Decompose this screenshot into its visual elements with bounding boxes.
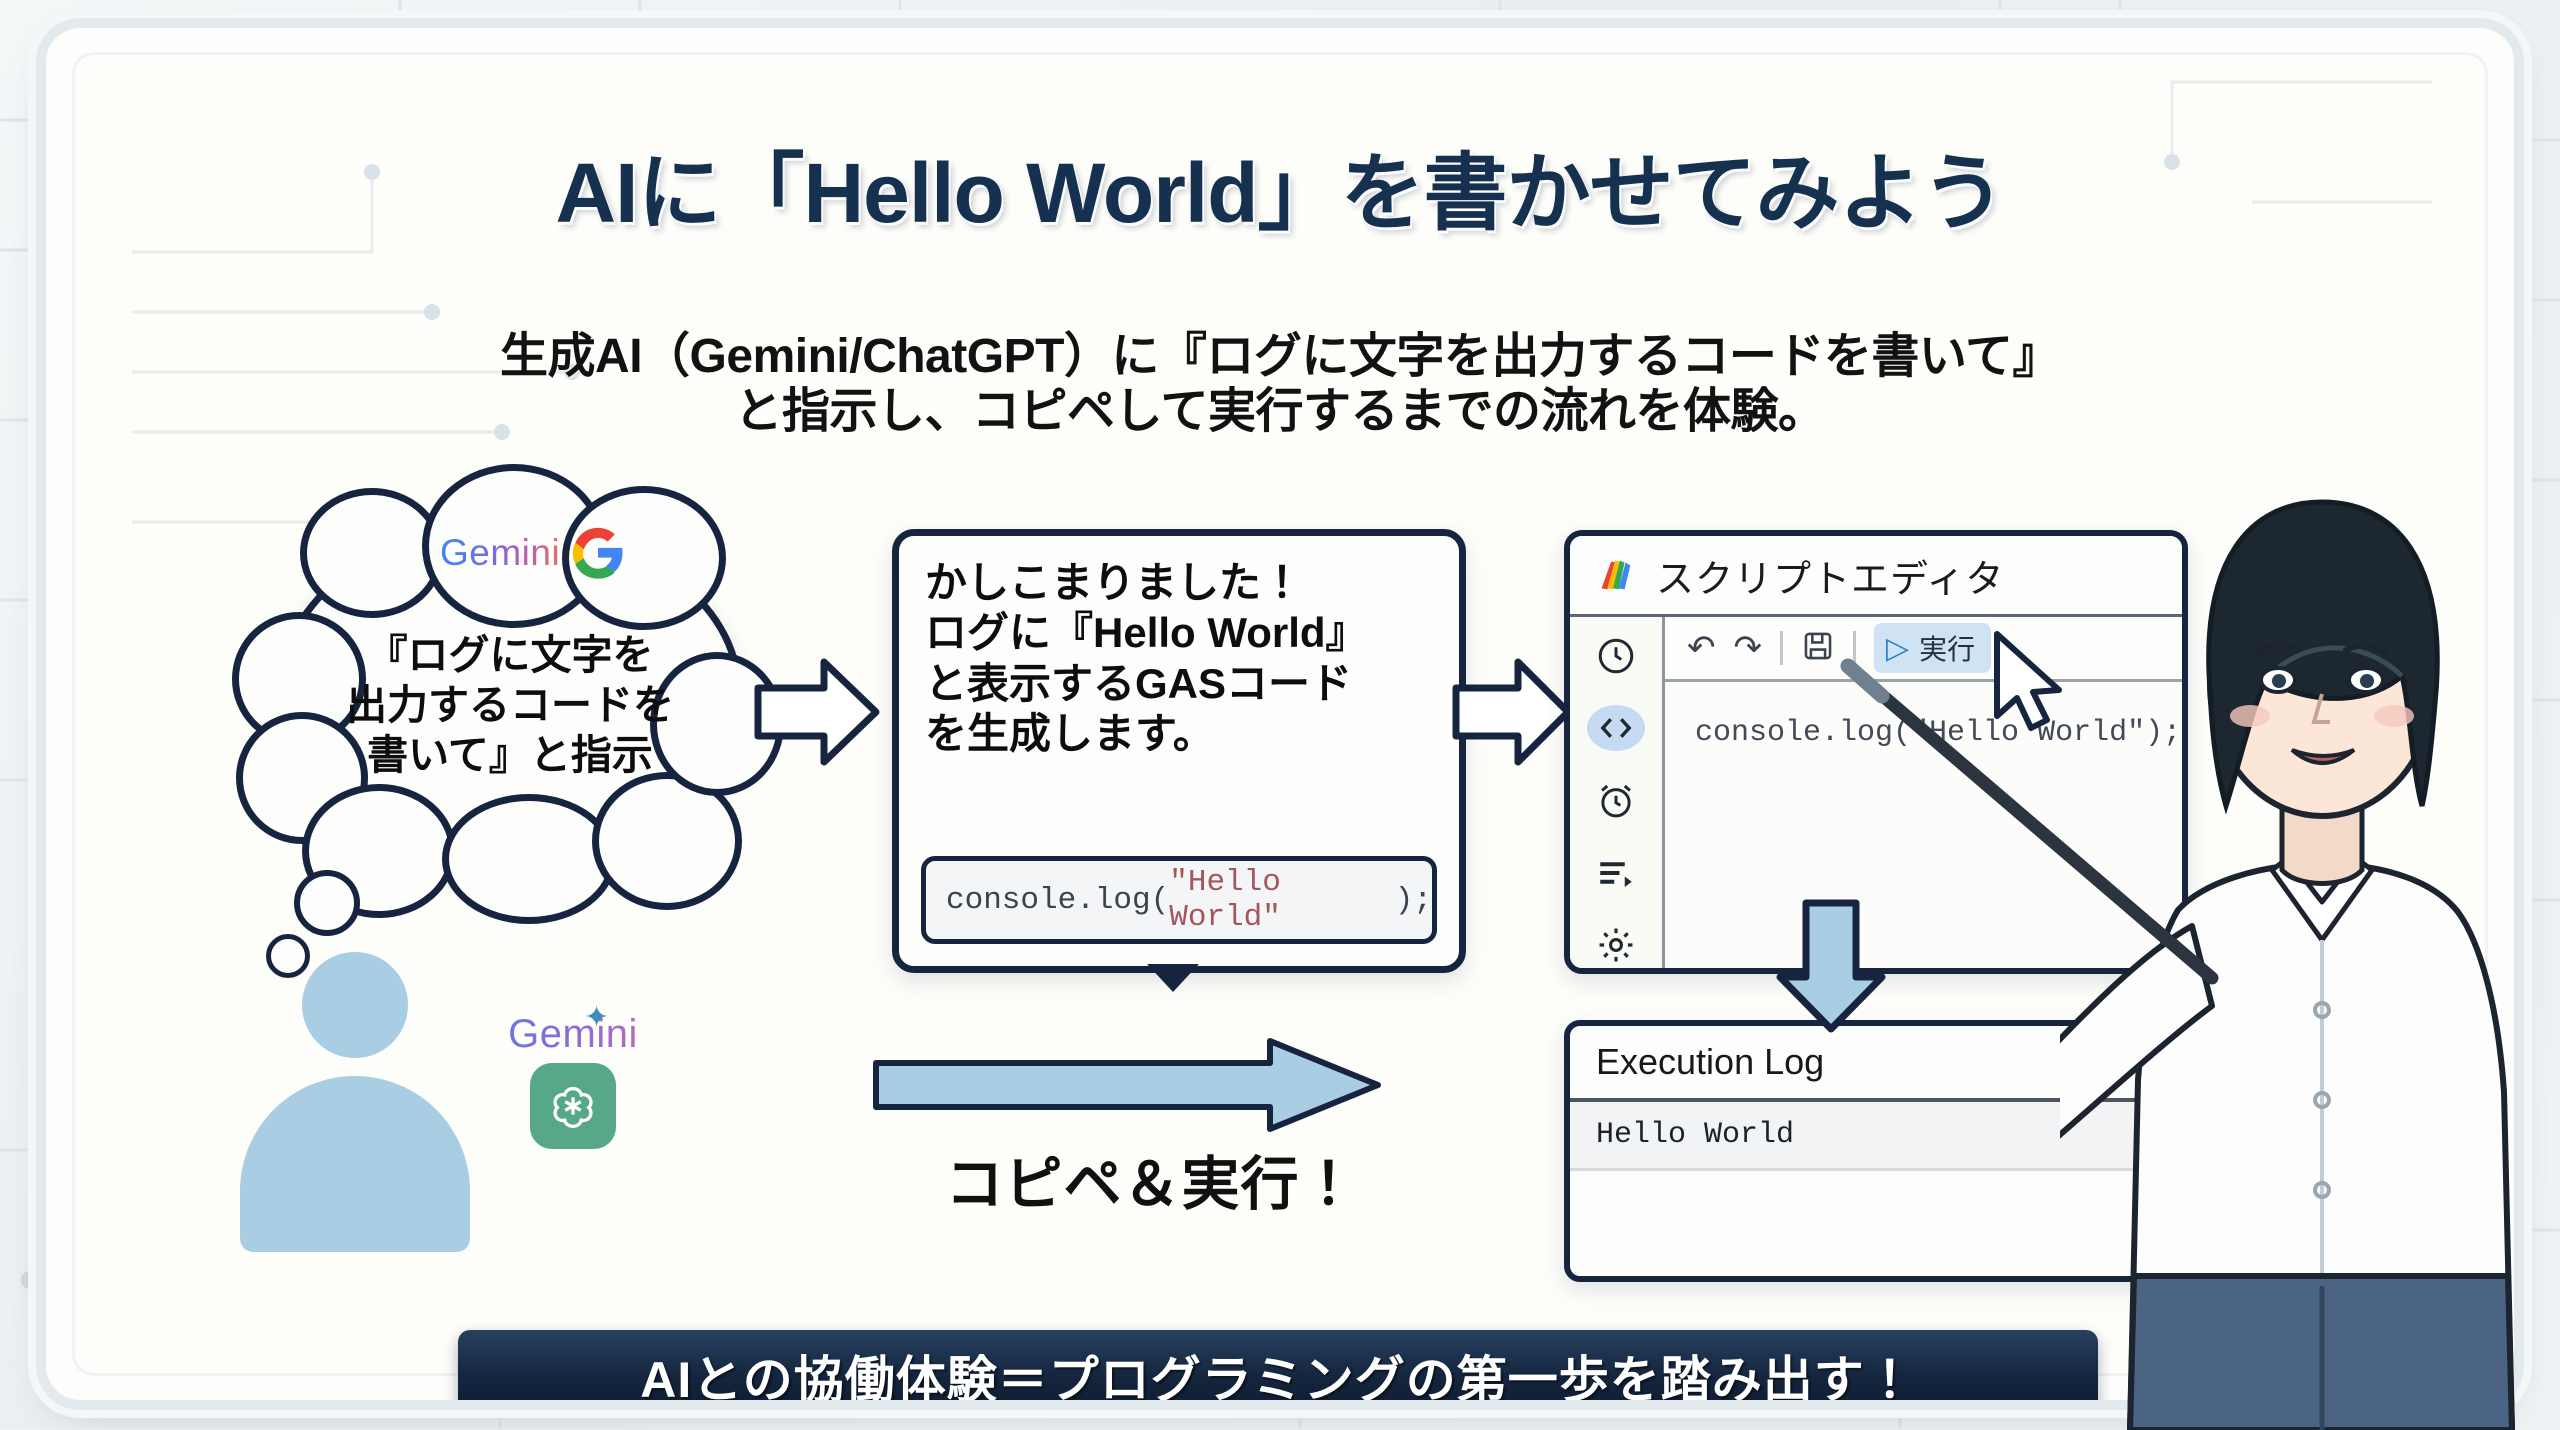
chatgpt-logo-icon — [530, 1063, 616, 1149]
arrow-right-answer-to-editor — [1450, 652, 1574, 772]
gemini-badge: Gemini — [440, 522, 650, 584]
ai-logo-stack: ✦ Gemini — [478, 1012, 668, 1149]
arrow-right-thought-to-answer — [752, 652, 882, 772]
answer-bubble-tail — [1147, 964, 1199, 992]
answer-line-1: かしこまりました！ — [925, 558, 1445, 608]
mouse-cursor-icon — [1987, 628, 2075, 736]
execution-list-icon[interactable] — [1587, 850, 1645, 896]
ai-answer-text: かしこまりました！ ログに『Hello World』 と表示するGASコード を… — [925, 558, 1445, 760]
google-apps-script-icon — [1592, 552, 1638, 598]
subtitle-line-2: と指示し、コピペして実行するまでの流れを体験。 — [72, 385, 2488, 440]
bottom-banner-text: AIとの協働体験＝プログラミングの第一歩を踏み出す！ — [640, 1340, 1916, 1400]
google-g-icon — [570, 525, 626, 581]
gear-icon[interactable] — [1587, 922, 1645, 968]
copy-paste-label: コピペ＆実行！ — [912, 1137, 1392, 1221]
page-subtitle: 生成AI（Gemini/ChatGPT）に『ログに文字を出力するコードを書いて』… — [72, 330, 2488, 439]
alarm-clock-icon[interactable] — [1587, 777, 1645, 823]
thought-line-3: 書いて』と指示 — [294, 730, 726, 780]
ai-answer-code-snippet[interactable]: console.log("Hello World"); — [921, 856, 1437, 944]
cloud-bump-7 — [442, 794, 616, 924]
gemini-sparkle-icon: ✦ — [584, 1000, 609, 1035]
answer-line-3: と表示するGASコード — [925, 659, 1445, 709]
code-brackets-icon[interactable] — [1587, 705, 1645, 751]
thought-line-1: 『ログに文字を — [294, 630, 726, 680]
script-editor-sidebar[interactable] — [1570, 617, 1665, 968]
page-title: AIに「Hello World」を書かせてみよう — [72, 126, 2488, 247]
undo-icon[interactable]: ↶ — [1687, 631, 1716, 665]
thought-line-2: 出力するコードを — [294, 680, 726, 730]
redo-icon[interactable]: ↷ — [1734, 631, 1763, 665]
code-suffix: ); — [1395, 883, 1432, 918]
code-prefix: console.log( — [946, 883, 1169, 918]
user-avatar-icon — [240, 952, 470, 1252]
thought-bubble-text: 『ログに文字を 出力するコードを 書いて』と指示 — [294, 630, 726, 780]
gemini-wordmark-small: Gemini — [478, 1012, 668, 1057]
avatar-body — [240, 1076, 470, 1252]
clock-icon[interactable] — [1587, 633, 1645, 679]
avatar-head — [302, 952, 408, 1058]
answer-line-2: ログに『Hello World』 — [925, 608, 1445, 658]
thought-tail-dot-large — [294, 870, 360, 936]
subtitle-line-1: 生成AI（Gemini/ChatGPT）に『ログに文字を出力するコードを書いて』 — [72, 330, 2488, 385]
script-editor-title-text: スクリプトエディタ — [1656, 548, 2004, 603]
code-string: "Hello World" — [1169, 865, 1395, 935]
arrow-right-copy-paste — [872, 1037, 1382, 1133]
ai-answer-bubble: かしこまりました！ ログに『Hello World』 と表示するGASコード を… — [892, 529, 1466, 973]
gemini-wordmark: Gemini — [440, 532, 560, 574]
answer-line-4: を生成します。 — [925, 709, 1445, 759]
toolbar-separator-1 — [1780, 631, 1783, 665]
bottom-banner: AIとの協働体験＝プログラミングの第一歩を踏み出す！ — [458, 1330, 2098, 1400]
